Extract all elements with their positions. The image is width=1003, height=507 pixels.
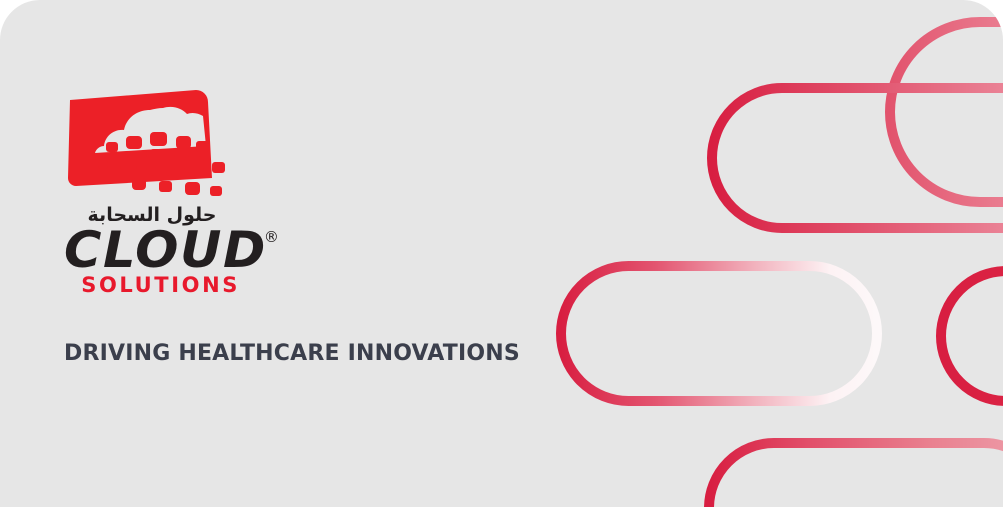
logo-wordmark: CLOUD (64, 226, 267, 274)
tagline-heading: DRIVING HEALTHCARE INNOVATIONS (64, 341, 520, 367)
capsule-middle (561, 266, 877, 401)
capsule-middle-right (941, 271, 1003, 401)
brand-banner: حلول السحابة CLOUD ® SOLUTIONS DRIVING H… (0, 0, 1003, 507)
capsule-upper (712, 88, 1003, 228)
logo-typography: حلول السحابة CLOUD ® SOLUTIONS (64, 206, 254, 296)
capsule-bottom (709, 443, 1003, 507)
cloud-pixel-mark-icon (64, 86, 236, 204)
logo-wordmark-row: CLOUD ® (64, 226, 254, 274)
capsule-top-right (890, 22, 1003, 202)
brand-logo: حلول السحابة CLOUD ® SOLUTIONS (64, 86, 484, 296)
